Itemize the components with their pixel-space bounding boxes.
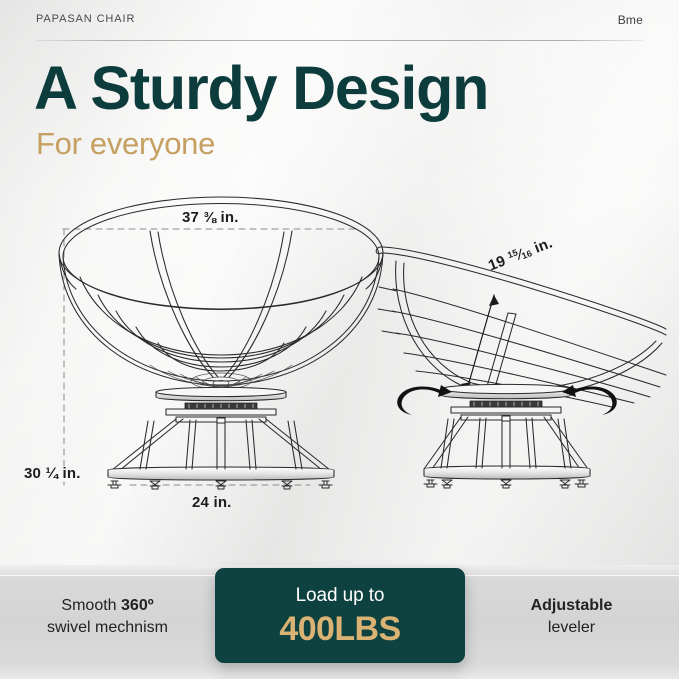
header-divider xyxy=(36,40,643,41)
chair-side-profile xyxy=(376,247,666,407)
header-bar: PAPASAN CHAIR Bme xyxy=(36,13,643,37)
leveler-feet-right xyxy=(424,480,588,488)
swivel-plate-right xyxy=(441,384,571,413)
feature-leveler-line1: Adjustable xyxy=(531,597,613,614)
page-subtitle: For everyone xyxy=(36,126,215,162)
swivel-plate-left xyxy=(156,387,286,415)
product-infographic: PAPASAN CHAIR Bme A Sturdy Design For ev… xyxy=(0,0,679,679)
feature-swivel: Smooth 360º swivel mechnism xyxy=(0,595,215,639)
feature-leveler: Adjustable leveler xyxy=(464,595,679,639)
brand-logo-text: Bme xyxy=(618,13,643,27)
dimension-diagram xyxy=(0,185,679,530)
load-badge-value: 400LBS xyxy=(279,610,400,648)
dimension-label-depth: 24 in. xyxy=(192,494,232,511)
dimension-label-height: 30 ¼ in. xyxy=(24,465,81,482)
feature-swivel-prefix: Smooth xyxy=(61,597,121,614)
feature-leveler-line2: leveler xyxy=(464,617,679,639)
feature-swivel-line2: swivel mechnism xyxy=(0,617,215,639)
feature-swivel-degrees: 360º xyxy=(121,597,154,614)
base-frame-right xyxy=(424,415,590,479)
load-capacity-badge: Load up to 400LBS xyxy=(215,568,465,663)
product-category-kicker: PAPASAN CHAIR xyxy=(36,13,135,25)
diagram-svg xyxy=(0,185,679,530)
dimension-label-width: 37 ⅜ in. xyxy=(182,209,239,226)
base-frame-left xyxy=(108,417,334,480)
page-title: A Sturdy Design xyxy=(34,54,488,122)
load-badge-label: Load up to xyxy=(296,584,385,608)
